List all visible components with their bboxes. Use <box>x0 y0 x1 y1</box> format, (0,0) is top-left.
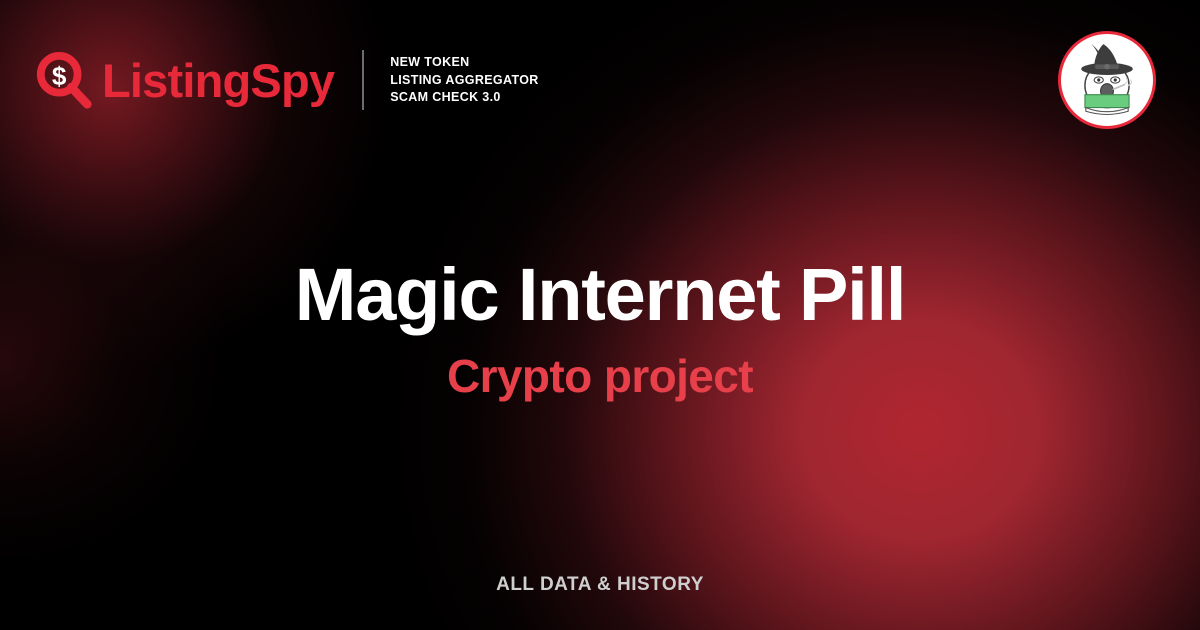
page-title: Magic Internet Pill <box>255 256 945 334</box>
tagline-line-2: LISTING AGGREGATOR <box>390 73 538 88</box>
tagline-line-1: NEW TOKEN <box>390 55 538 70</box>
svg-text:$: $ <box>52 61 67 91</box>
tagline-line-3: SCAM CHECK 3.0 <box>390 90 538 105</box>
avatar[interactable] <box>1058 31 1156 129</box>
brand-divider <box>362 50 364 110</box>
wizard-frog-avatar-icon <box>1061 34 1153 126</box>
brand-name: ListingSpy <box>102 57 334 104</box>
footer-text: ALL DATA & HISTORY <box>496 574 704 596</box>
tagline-block: NEW TOKEN LISTING AGGREGATOR SCAM CHECK … <box>390 55 538 105</box>
header: $ ListingSpy NEW TOKEN LISTING AGGREGATO… <box>0 0 1200 160</box>
og-card: $ ListingSpy NEW TOKEN LISTING AGGREGATO… <box>0 0 1200 630</box>
magnifier-dollar-icon: $ <box>34 50 96 112</box>
footer: ALL DATA & HISTORY <box>0 574 1200 596</box>
brand-lockup[interactable]: $ ListingSpy <box>34 48 334 112</box>
page-subtitle: Crypto project <box>447 351 753 402</box>
